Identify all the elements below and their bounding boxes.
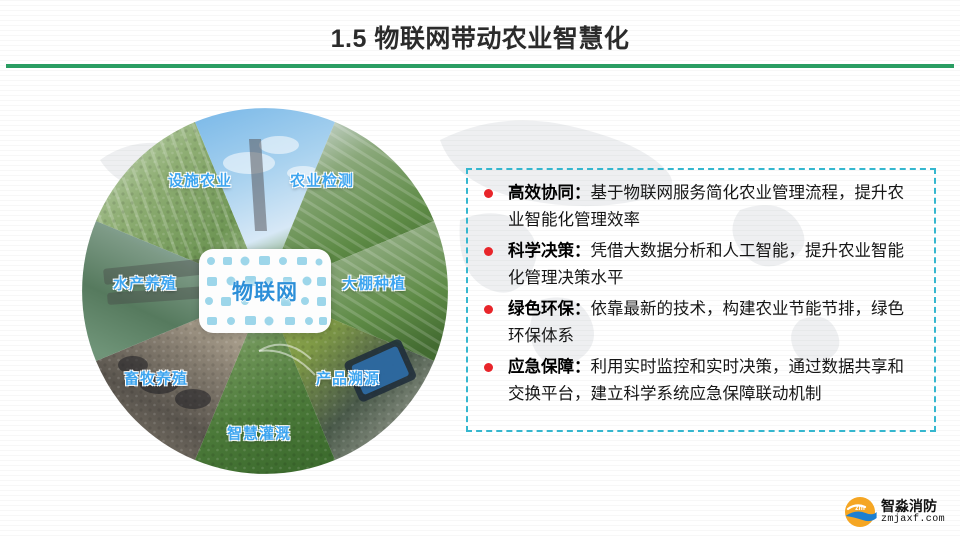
bullet-dot-icon bbox=[484, 363, 493, 372]
logo-text-block: 智淼消防 zmjaxf.com bbox=[881, 499, 945, 525]
logo-mark-icon: zm bbox=[843, 495, 877, 529]
bullet-heading: 高效协同： bbox=[508, 184, 591, 202]
svg-text:zm: zm bbox=[855, 505, 865, 512]
brand-logo: zm 智淼消防 zmjaxf.com bbox=[843, 493, 955, 531]
page-title: 1.5 物联网带动农业智慧化 bbox=[0, 22, 960, 56]
list-item: 高效协同：基于物联网服务简化农业管理流程，提升农业智能化管理效率 bbox=[478, 180, 920, 234]
title-underline-rule bbox=[6, 64, 954, 68]
bullet-dot-icon bbox=[484, 189, 493, 198]
slide-canvas: 1.5 物联网带动农业智慧化 bbox=[0, 0, 960, 540]
list-item: 应急保障：利用实时监控和实时决策，通过数据共享和交换平台，建立科学系统应急保障联… bbox=[478, 354, 920, 408]
benefits-list: 高效协同：基于物联网服务简化农业管理流程，提升农业智能化管理效率 科学决策：凭借… bbox=[478, 180, 920, 408]
iot-agriculture-wheel: 设施农业 农业检测 大棚种植 产品溯源 智慧灌溉 畜牧养殖 水产养殖 bbox=[82, 108, 448, 474]
bullet-heading: 科学决策： bbox=[508, 242, 591, 260]
list-item: 绿色环保：依靠最新的技术，构建农业节能节排，绿色环保体系 bbox=[478, 296, 920, 350]
hub-label: 物联网 bbox=[199, 249, 331, 333]
bullet-heading: 应急保障： bbox=[508, 358, 591, 376]
bullet-dot-icon bbox=[484, 247, 493, 256]
list-item: 科学决策：凭借大数据分析和人工智能，提升农业智能化管理决策水平 bbox=[478, 238, 920, 292]
bullet-heading: 绿色环保： bbox=[508, 300, 591, 318]
benefits-panel: 高效协同：基于物联网服务简化农业管理流程，提升农业智能化管理效率 科学决策：凭借… bbox=[466, 168, 936, 432]
logo-company-name: 智淼消防 bbox=[881, 499, 945, 513]
wheel-hub: 物联网 bbox=[199, 249, 331, 333]
logo-website-url: zmjaxf.com bbox=[881, 515, 945, 525]
bullet-dot-icon bbox=[484, 305, 493, 314]
